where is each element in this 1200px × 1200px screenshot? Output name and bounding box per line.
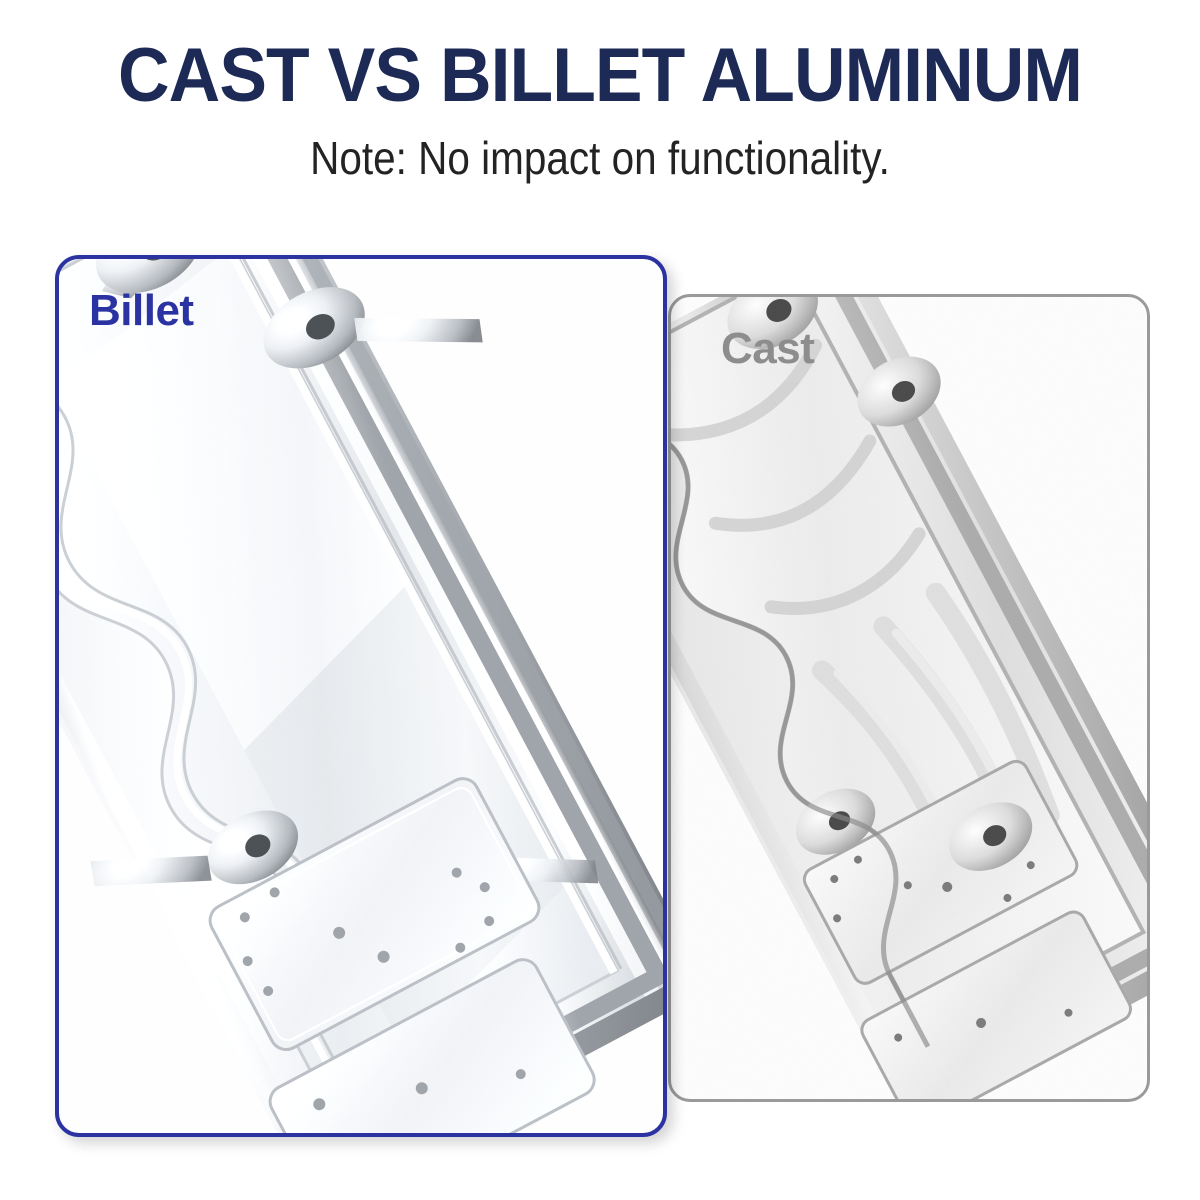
billet-part-image <box>59 259 663 1133</box>
billet-panel: Billet <box>55 255 667 1137</box>
cast-panel: Cast <box>668 294 1150 1102</box>
comparison-section: Cast <box>0 0 1200 1200</box>
cast-valve-cover-illustration <box>671 297 1150 1102</box>
cast-part-image <box>671 297 1147 1099</box>
cast-panel-label: Cast <box>721 325 814 373</box>
billet-valve-cover-illustration <box>59 259 667 1137</box>
billet-panel-label: Billet <box>89 287 194 335</box>
